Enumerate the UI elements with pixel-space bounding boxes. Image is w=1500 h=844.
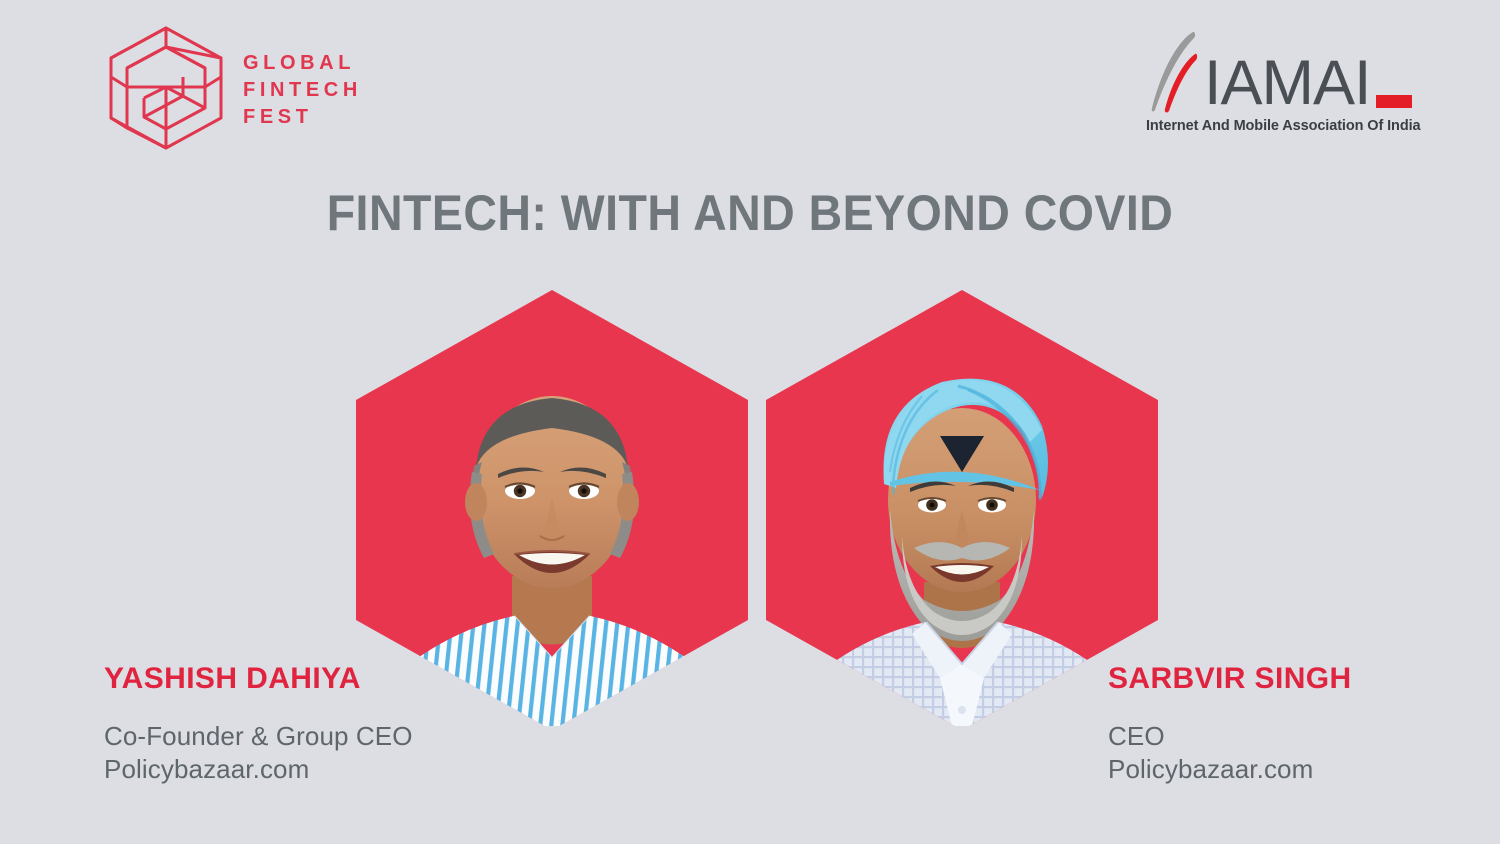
speaker-details-sarbvir-singh: SARBVIR SINGH CEO Policybazaar.com <box>1108 664 1488 786</box>
iamai-logo[interactable]: IAMAI Internet And Mobile Association Of… <box>1146 28 1408 146</box>
red-underscore-icon <box>1376 95 1412 108</box>
gff-wordmark: GLOBAL FINTECH FEST <box>243 49 362 127</box>
global-fintech-fest-logo[interactable]: GLOBAL FINTECH FEST <box>105 24 365 152</box>
session-title: FINTECH: WITH AND BEYOND COVID <box>53 188 1448 238</box>
speaker-name: SARBVIR SINGH <box>1108 664 1488 694</box>
speaker-role: Co-Founder & Group CEO <box>104 720 534 753</box>
iamai-tagline: Internet And Mobile Association Of India <box>1146 118 1408 134</box>
speaker-name: YASHISH DAHIYA <box>104 664 534 694</box>
speaker-details-yashish-dahiya: YASHISH DAHIYA Co-Founder & Group CEO Po… <box>104 664 534 786</box>
speaker-photo-sarbvir-singh <box>762 286 1162 726</box>
portrait-hexagon-right <box>762 286 1162 726</box>
speaker-organization: Policybazaar.com <box>104 753 534 786</box>
gff-word-fest: FEST <box>243 107 362 127</box>
gff-word-global: GLOBAL <box>243 53 362 73</box>
isometric-g-cube-icon <box>105 25 227 151</box>
speaker-organization: Policybazaar.com <box>1108 753 1488 786</box>
iamai-wordmark-row: IAMAI <box>1146 28 1408 114</box>
gff-word-fintech: FINTECH <box>243 80 362 100</box>
iamai-wordmark: IAMAI <box>1204 54 1371 114</box>
speaker-role: CEO <box>1108 720 1488 753</box>
speaker-photo-yashish-dahiya <box>352 286 752 726</box>
portrait-hexagon-left <box>352 286 752 726</box>
iamai-swoosh-icon <box>1146 30 1202 114</box>
presentation-slide: GLOBAL FINTECH FEST IAMAI Internet And M… <box>0 0 1500 844</box>
